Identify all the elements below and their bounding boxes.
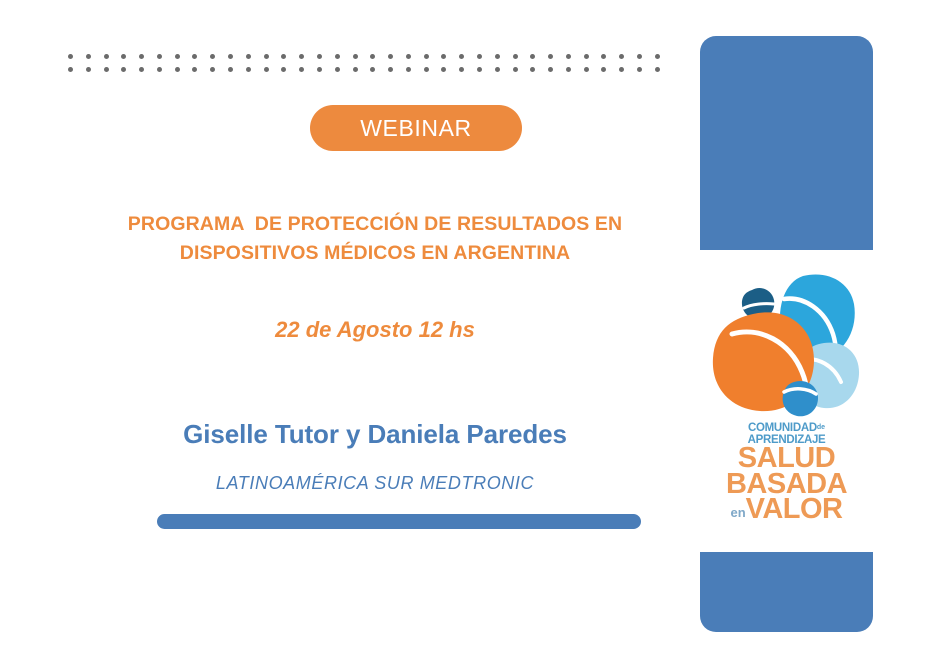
decorative-dot	[299, 54, 304, 59]
decorative-dot	[406, 54, 411, 59]
dot-pattern-decoration	[68, 50, 668, 76]
decorative-dot	[459, 54, 464, 59]
decorative-dot	[584, 54, 589, 59]
decorative-dot	[335, 67, 340, 72]
decorative-dot	[228, 67, 233, 72]
decorative-dot	[68, 54, 73, 59]
decorative-dot	[495, 67, 500, 72]
decorative-dot	[566, 54, 571, 59]
decorative-dot	[210, 54, 215, 59]
logo-text-comunidad: COMUNIDAD	[748, 422, 817, 434]
decorative-dot	[477, 67, 482, 72]
decorative-dot	[637, 67, 642, 72]
speaker-names: Giselle Tutor y Daniela Paredes	[60, 419, 690, 450]
decorative-dot	[548, 54, 553, 59]
logo-text-valor: VALOR	[746, 493, 843, 525]
logo-wordmark: COMUNIDADde APRENDIZAJE SALUD BASADA enV…	[700, 422, 873, 526]
logo-line-valor: enVALOR	[700, 497, 873, 526]
decorative-dot	[406, 67, 411, 72]
decorative-dot	[441, 67, 446, 72]
decorative-dot	[424, 54, 429, 59]
dot-row	[68, 63, 660, 76]
decorative-dot	[335, 54, 340, 59]
decorative-dot	[68, 67, 73, 72]
decorative-dot	[246, 54, 251, 59]
decorative-dot	[370, 54, 375, 59]
logo-container: COMUNIDADde APRENDIZAJE SALUD BASADA enV…	[700, 250, 873, 552]
decorative-dot	[353, 54, 358, 59]
decorative-dot	[655, 54, 660, 59]
decorative-dot	[513, 67, 518, 72]
decorative-dot	[86, 54, 91, 59]
decorative-dot	[246, 67, 251, 72]
decorative-dot	[175, 54, 180, 59]
accent-bar	[157, 514, 641, 529]
logo-text-de: de	[817, 424, 825, 431]
decorative-dot	[477, 54, 482, 59]
decorative-dot	[281, 54, 286, 59]
logo-text-en: en	[730, 505, 745, 520]
decorative-dot	[388, 67, 393, 72]
right-panel-top	[700, 36, 873, 250]
logo-blobs-icon	[708, 268, 865, 423]
decorative-dot	[584, 67, 589, 72]
decorative-dot	[264, 67, 269, 72]
decorative-dot	[655, 67, 660, 72]
decorative-dot	[530, 54, 535, 59]
decorative-dot	[619, 54, 624, 59]
decorative-dot	[317, 67, 322, 72]
decorative-dot	[192, 67, 197, 72]
decorative-dot	[619, 67, 624, 72]
decorative-dot	[192, 54, 197, 59]
decorative-dot	[441, 54, 446, 59]
decorative-dot	[104, 54, 109, 59]
decorative-dot	[530, 67, 535, 72]
decorative-dot	[210, 67, 215, 72]
decorative-dot	[157, 54, 162, 59]
decorative-dot	[601, 54, 606, 59]
decorative-dot	[264, 54, 269, 59]
logo-line-comunidad: COMUNIDADde	[700, 422, 873, 434]
page-title: PROGRAMA DE PROTECCIÓN DE RESULTADOS EN …	[60, 210, 690, 268]
decorative-dot	[601, 67, 606, 72]
webinar-badge-label: WEBINAR	[360, 115, 472, 142]
decorative-dot	[459, 67, 464, 72]
decorative-dot	[121, 54, 126, 59]
decorative-dot	[157, 67, 162, 72]
decorative-dot	[104, 67, 109, 72]
decorative-dot	[139, 54, 144, 59]
webinar-badge: WEBINAR	[310, 105, 522, 151]
decorative-dot	[370, 67, 375, 72]
decorative-dot	[566, 67, 571, 72]
decorative-dot	[495, 54, 500, 59]
decorative-dot	[353, 67, 358, 72]
right-panel-bottom	[700, 552, 873, 632]
event-date: 22 de Agosto 12 hs	[60, 317, 690, 343]
speaker-affiliation: LATINOAMÉRICA SUR MEDTRONIC	[60, 473, 690, 494]
decorative-dot	[388, 54, 393, 59]
decorative-dot	[86, 67, 91, 72]
decorative-dot	[139, 67, 144, 72]
webinar-poster: WEBINAR PROGRAMA DE PROTECCIÓN DE RESULT…	[0, 0, 946, 651]
decorative-dot	[424, 67, 429, 72]
decorative-dot	[121, 67, 126, 72]
dot-row	[68, 50, 660, 63]
decorative-dot	[548, 67, 553, 72]
decorative-dot	[228, 54, 233, 59]
decorative-dot	[299, 67, 304, 72]
decorative-dot	[513, 54, 518, 59]
decorative-dot	[175, 67, 180, 72]
decorative-dot	[281, 67, 286, 72]
decorative-dot	[317, 54, 322, 59]
decorative-dot	[637, 54, 642, 59]
